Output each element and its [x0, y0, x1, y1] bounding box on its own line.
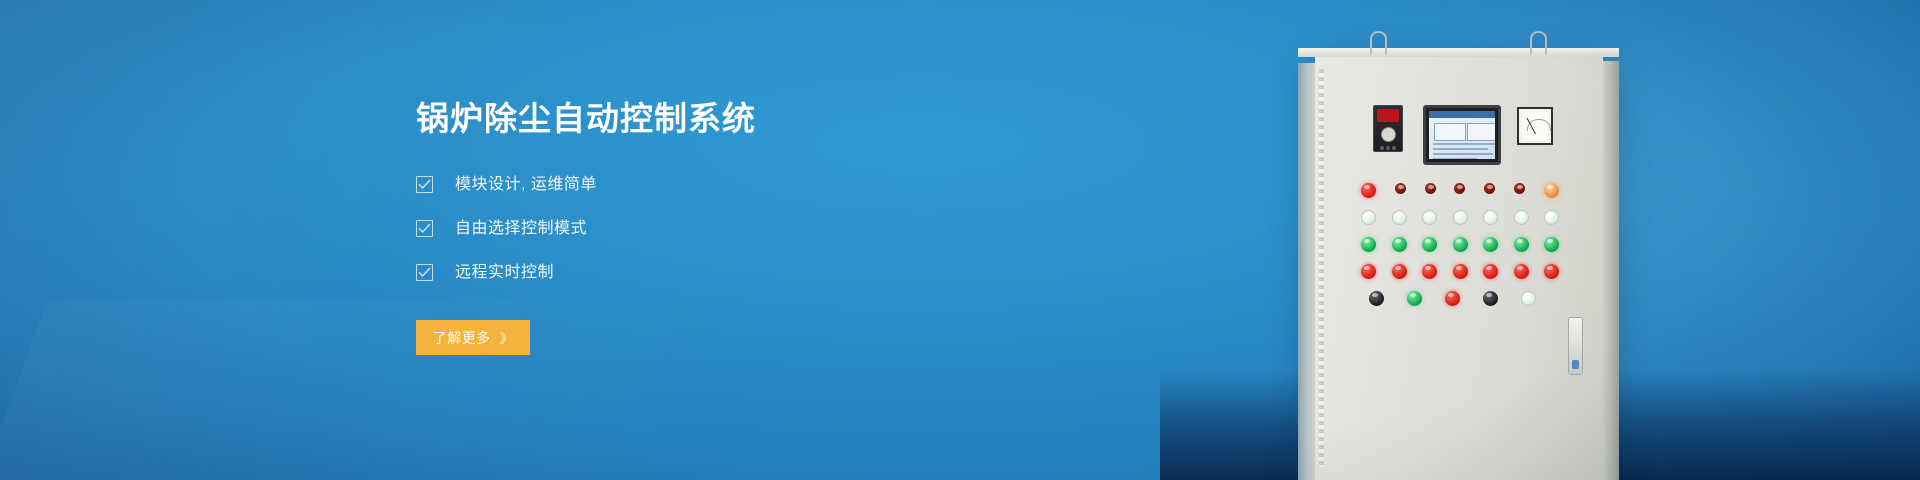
hero-copy: 锅炉除尘自动控制系统 模块设计, 运维简单 自由选择控制模式 远程实时控制 [416, 98, 936, 355]
lifting-hook-left-icon [1370, 31, 1387, 55]
hmi-touch-panel [1423, 105, 1501, 165]
lamp-row [1361, 291, 1559, 306]
indicator-lamp-white[interactable] [1422, 210, 1437, 225]
selector-switch-black[interactable] [1369, 291, 1384, 306]
hero-banner: 锅炉除尘自动控制系统 模块设计, 运维简单 自由选择控制模式 远程实时控制 [0, 0, 1920, 480]
indicator-lamp-amber[interactable] [1544, 183, 1559, 198]
hmi-title-bar [1429, 111, 1495, 118]
lamp-row [1361, 264, 1559, 279]
learn-more-label: 了解更多 [433, 328, 491, 348]
indicator-lamp-green[interactable] [1422, 237, 1437, 252]
product-photo [1160, 0, 1920, 480]
cabinet-right-side [1603, 61, 1619, 480]
hmi-screen [1429, 111, 1495, 159]
hmi-widget [1467, 123, 1495, 141]
indicator-lamp-red[interactable] [1361, 264, 1376, 279]
temperature-controller [1373, 105, 1403, 152]
indicator-lamp-dark-red[interactable] [1395, 183, 1406, 194]
cabinet-hinge [1319, 69, 1324, 467]
indicator-lamp-green[interactable] [1392, 237, 1407, 252]
feature-list: 模块设计, 运维简单 自由选择控制模式 远程实时控制 [416, 168, 936, 289]
lamp-row [1361, 237, 1559, 252]
indicator-lamp-red[interactable] [1392, 264, 1407, 279]
control-cabinet [1315, 55, 1603, 480]
feature-item-3: 远程实时控制 [416, 256, 936, 289]
cabinet-left-side [1298, 63, 1315, 480]
indicator-lamp-white[interactable] [1521, 291, 1536, 306]
page-title: 锅炉除尘自动控制系统 [416, 98, 936, 140]
analog-meter [1517, 107, 1553, 145]
lamp-row [1361, 183, 1559, 198]
checkbox-check-icon [416, 176, 433, 193]
checkbox-check-icon [416, 264, 433, 281]
controller-display [1377, 109, 1399, 122]
indicator-lamp-white[interactable] [1544, 210, 1559, 225]
chevron-right-icon: 》 [500, 328, 514, 347]
indicator-lamp-red[interactable] [1445, 291, 1460, 306]
meter-face [1522, 112, 1548, 140]
feature-label: 自由选择控制模式 [455, 219, 587, 239]
indicator-lamp-green[interactable] [1514, 237, 1529, 252]
hmi-text-row [1433, 148, 1488, 150]
indicator-lamp-white[interactable] [1361, 210, 1376, 225]
indicator-lamp-green[interactable] [1407, 291, 1422, 306]
indicator-lamp-red[interactable] [1361, 183, 1376, 198]
indicator-lamp-red[interactable] [1453, 264, 1468, 279]
hmi-widget [1434, 123, 1466, 141]
checkbox-check-icon [416, 220, 433, 237]
indicator-lamp-green[interactable] [1544, 237, 1559, 252]
feature-item-2: 自由选择控制模式 [416, 212, 936, 245]
hmi-text-row [1433, 158, 1477, 159]
selector-switch-black[interactable] [1483, 291, 1498, 306]
indicator-lamp-white[interactable] [1514, 210, 1529, 225]
indicator-lamp-dark-red[interactable] [1425, 183, 1436, 194]
hmi-text-row [1433, 143, 1495, 145]
cabinet-top-edge [1298, 48, 1619, 57]
indicator-lamp-dark-red[interactable] [1454, 183, 1465, 194]
hmi-text-row [1433, 153, 1493, 155]
indicator-lamp-white[interactable] [1453, 210, 1468, 225]
feature-label: 远程实时控制 [455, 263, 554, 283]
indicator-lamp-red[interactable] [1422, 264, 1437, 279]
indicator-lamp-green[interactable] [1483, 237, 1498, 252]
indicator-lamp-red[interactable] [1544, 264, 1559, 279]
feature-label: 模块设计, 运维简单 [455, 175, 597, 195]
indicator-lamp-white[interactable] [1483, 210, 1498, 225]
controller-knob [1381, 127, 1396, 142]
controller-indicator-dots [1377, 146, 1399, 150]
lamp-row [1361, 210, 1559, 225]
indicator-lamp-red[interactable] [1483, 264, 1498, 279]
learn-more-button[interactable]: 了解更多 》 [416, 320, 530, 355]
indicator-lamp-red[interactable] [1514, 264, 1529, 279]
indicator-lamp-green[interactable] [1361, 237, 1376, 252]
feature-item-1: 模块设计, 运维简单 [416, 168, 936, 201]
indicator-lamp-green[interactable] [1453, 237, 1468, 252]
indicator-lamp-array [1361, 183, 1559, 318]
lifting-hook-right-icon [1530, 31, 1547, 55]
indicator-lamp-dark-red[interactable] [1514, 183, 1525, 194]
indicator-lamp-dark-red[interactable] [1484, 183, 1495, 194]
door-handle[interactable] [1568, 317, 1583, 375]
indicator-lamp-white[interactable] [1392, 210, 1407, 225]
